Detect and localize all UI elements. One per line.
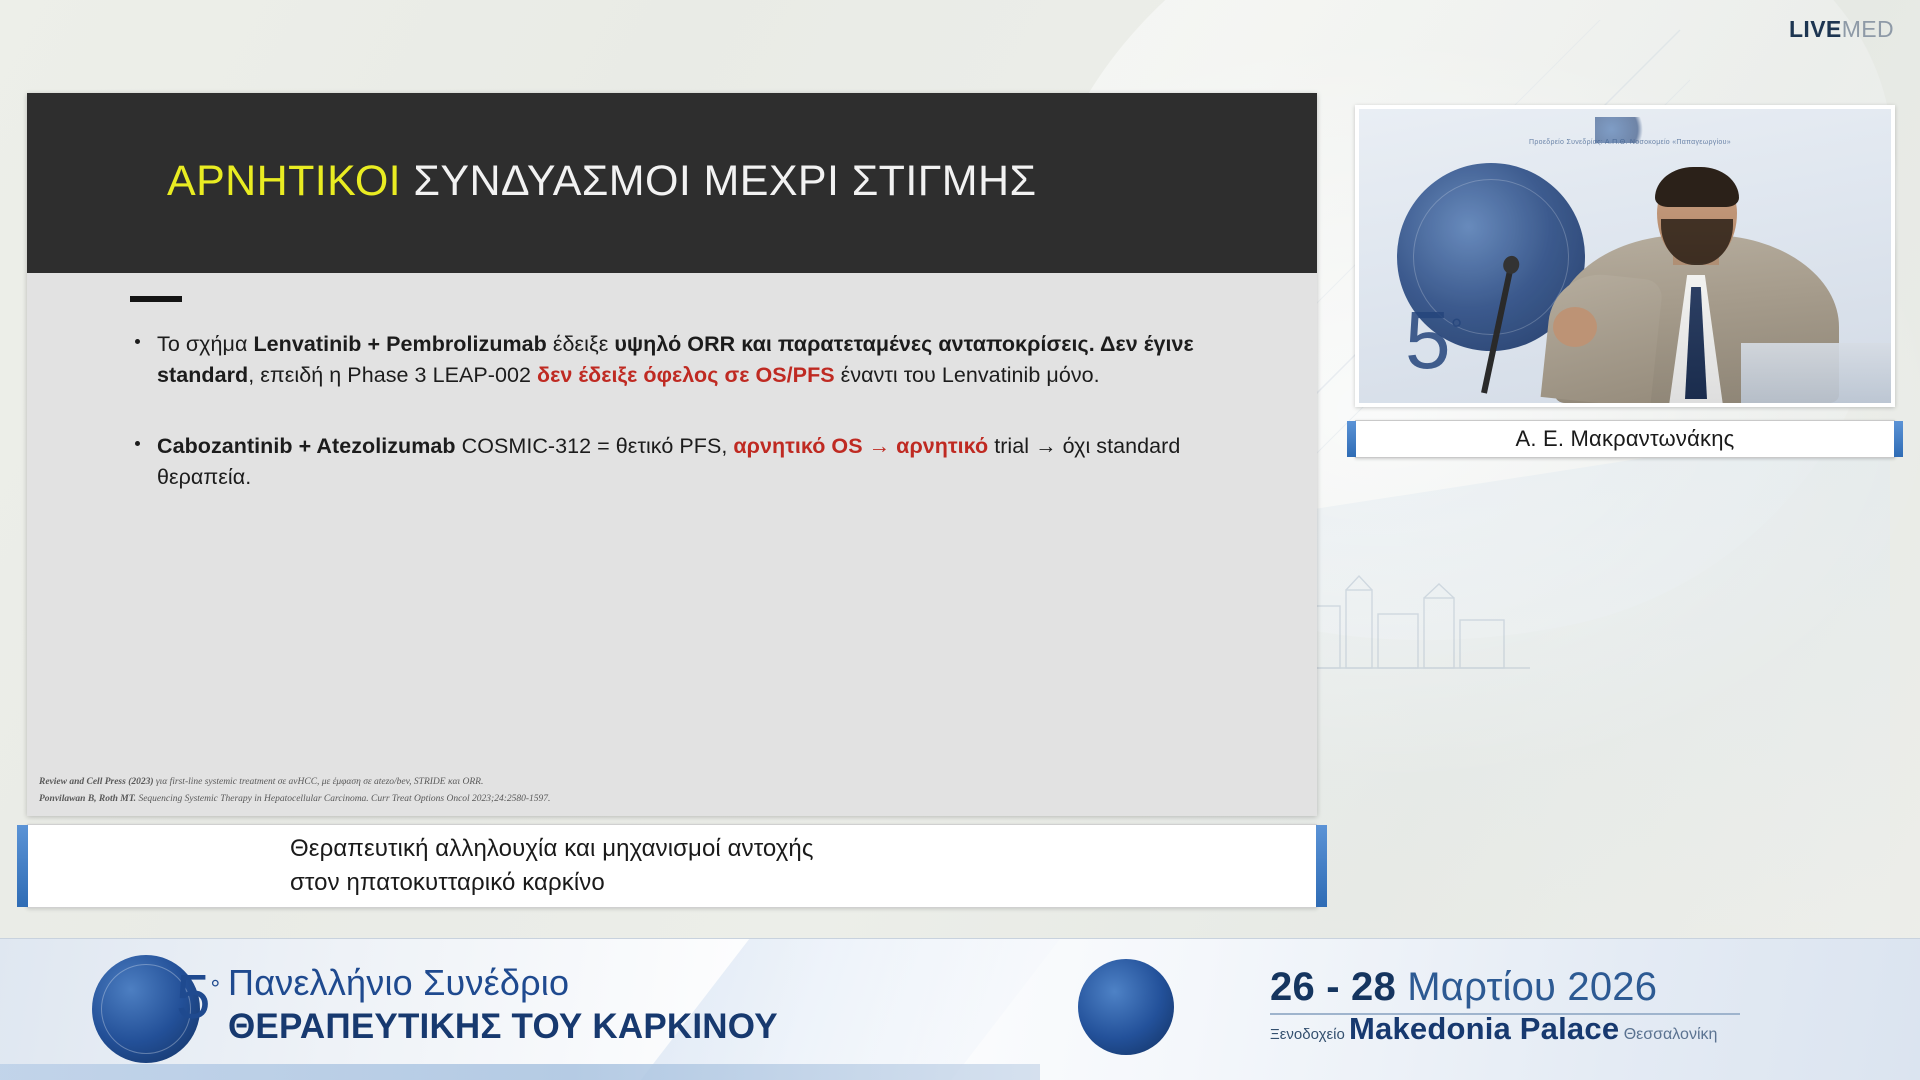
bullet-dot-icon <box>135 441 140 446</box>
brand-live-text: LIVE <box>1789 16 1842 42</box>
congress-dates: 26 - 28 Μαρτίου 2026 <box>1270 963 1740 1011</box>
congress-edition-number: 5° <box>176 967 220 1029</box>
venue-prefix: Ξενοδοχείο <box>1270 1026 1349 1043</box>
speaker-hand <box>1553 307 1597 347</box>
speaker-video-panel[interactable]: Προεδρείο Συνεδρίας: Α.Π.Θ. Νοσοκομείο «… <box>1355 105 1895 407</box>
brand-med-text: MED <box>1842 16 1894 42</box>
livemed-logo: LIVEMED <box>1789 18 1894 41</box>
venue-hotel-name: Makedonia Palace <box>1349 1011 1619 1046</box>
session-title-line2: στον ηπατοκυτταρικό καρκίνο <box>290 866 814 900</box>
slide-body: Το σχήμα Lenvatinib + Pembrolizumab έδει… <box>27 273 1317 816</box>
congress-dates-month: Μαρτίου 2026 <box>1407 965 1657 1009</box>
congress-globe-secondary-icon <box>1078 959 1174 1055</box>
congress-subtitle: Πανελλήνιο Συνέδριο <box>228 961 778 1005</box>
speaker-podium <box>1741 343 1891 403</box>
bullet-dot-icon <box>135 339 140 344</box>
slide-title-highlight: ΑΡΝΗΤΙΚΟΙ <box>167 157 401 205</box>
slide-bullet-item: Cabozantinib + Atezolizumab COSMIC-312 =… <box>135 431 1195 493</box>
slide-header: ΑΡΝΗΤΙΚΟΙ ΣΥΝΔΥΑΣΜΟΙ ΜΕΧΡΙ ΣΤΙΓΜΗΣ <box>27 93 1317 273</box>
speaker-name-bar: Α. Ε. Μακραντωνάκης <box>1355 420 1895 458</box>
reference-line: Review and Cell Press (2023) για first-l… <box>39 774 1317 791</box>
congress-edition-value: 5 <box>176 963 210 1032</box>
slide-bullet-item: Το σχήμα Lenvatinib + Pembrolizumab έδει… <box>135 329 1195 391</box>
reference-line: Ponvilawan B, Roth MT. Sequencing System… <box>39 791 1317 808</box>
video-slide-caption: Προεδρείο Συνεδρίας: Α.Π.Θ. Νοσοκομείο «… <box>1529 139 1731 146</box>
bullet-text: Cabozantinib + Atezolizumab COSMIC-312 =… <box>135 431 1195 493</box>
banner-bottom-band <box>0 1064 1040 1080</box>
speaker-video-feed[interactable]: Προεδρείο Συνεδρίας: Α.Π.Θ. Νοσοκομείο «… <box>1359 109 1891 403</box>
slide-title: ΑΡΝΗΤΙΚΟΙ ΣΥΝΔΥΑΣΜΟΙ ΜΕΧΡΙ ΣΤΙΓΜΗΣ <box>167 157 1036 206</box>
congress-venue: Ξενοδοχείο Makedonia Palace Θεσσαλονίκη <box>1270 1019 1740 1045</box>
venue-city: Θεσσαλονίκη <box>1619 1026 1717 1043</box>
slide-references: Review and Cell Press (2023) για first-l… <box>27 774 1317 808</box>
bullet-text: Το σχήμα Lenvatinib + Pembrolizumab έδει… <box>135 329 1195 391</box>
session-title: Θεραπευτική αλληλουχία και μηχανισμοί αν… <box>28 832 814 900</box>
session-title-line1: Θεραπευτική αλληλουχία και μηχανισμοί αν… <box>290 832 814 866</box>
background-skyline-decoration <box>1300 560 1530 670</box>
slide-title-rest: ΣΥΝΔΥΑΣΜΟΙ ΜΕΧΡΙ ΣΤΙΓΜΗΣ <box>401 157 1036 205</box>
congress-dates-days: 26 - 28 <box>1270 965 1407 1009</box>
congress-date-venue-group: 26 - 28 Μαρτίου 2026 Ξενοδοχείο Makedoni… <box>1270 963 1740 1045</box>
speaker-hair <box>1655 167 1739 207</box>
congress-banner: 5° Πανελλήνιο Συνέδριο ΘΕΡΑΠΕΥΤΙΚΗΣ ΤΟΥ … <box>0 938 1920 1080</box>
session-title-bar: Θεραπευτική αλληλουχία και μηχανισμοί αν… <box>27 824 1317 908</box>
video-slide-number: 5° <box>1405 294 1463 388</box>
congress-edition-degree: ° <box>210 975 220 1002</box>
title-underline-dash <box>130 296 182 302</box>
congress-main-title: ΘΕΡΑΠΕΥΤΙΚΗΣ ΤΟΥ ΚΑΡΚΙΝΟΥ <box>228 1005 778 1049</box>
presentation-slide[interactable]: ΑΡΝΗΤΙΚΟΙ ΣΥΝΔΥΑΣΜΟΙ ΜΕΧΡΙ ΣΤΙΓΜΗΣ Το σχ… <box>27 93 1317 816</box>
speaker-name: Α. Ε. Μακραντωνάκης <box>1516 426 1735 452</box>
congress-title-group: 5° Πανελλήνιο Συνέδριο ΘΕΡΑΠΕΥΤΙΚΗΣ ΤΟΥ … <box>228 961 778 1049</box>
